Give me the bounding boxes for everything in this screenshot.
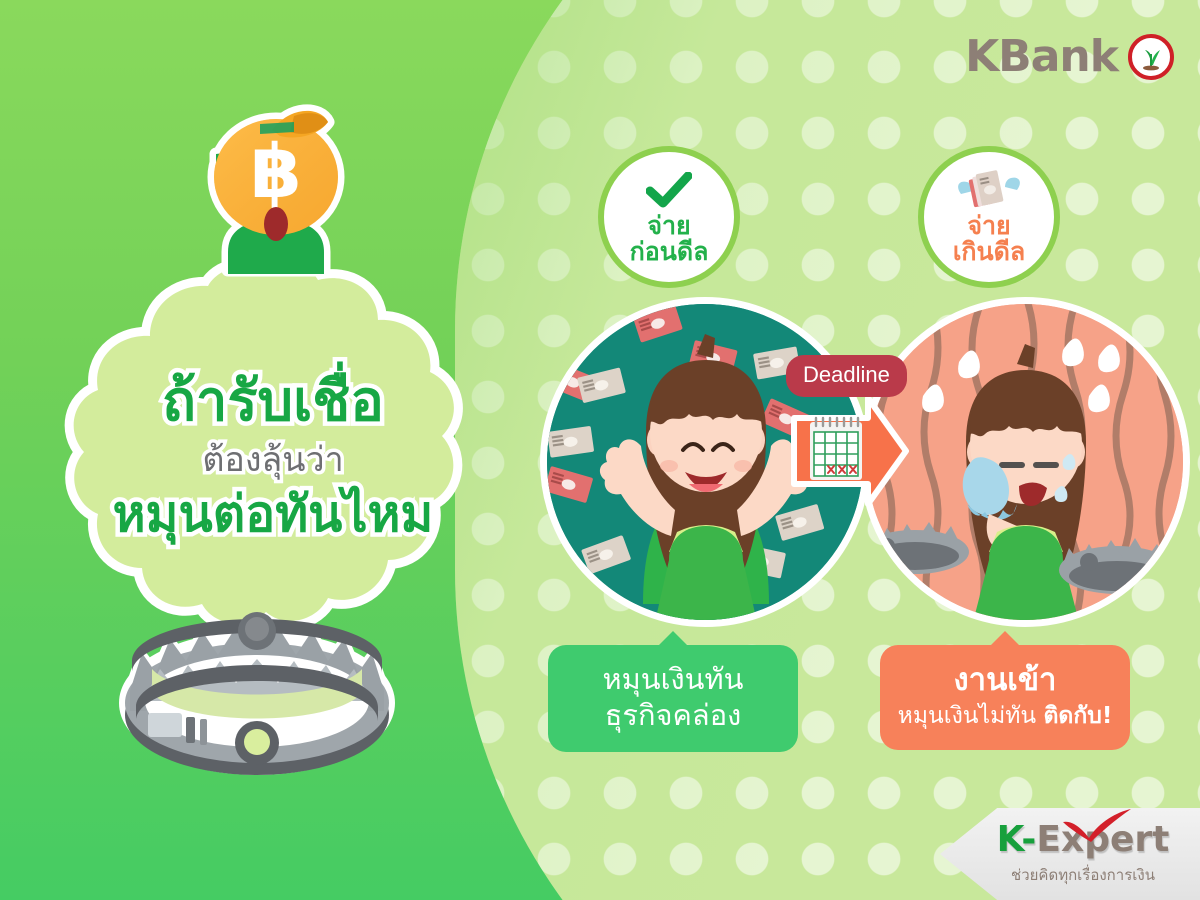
kexpert-tagline: ช่วยคิดทุกเรื่องการเงิน xyxy=(1011,863,1155,887)
check-mark-icon xyxy=(646,169,692,211)
red-check-icon xyxy=(1061,808,1135,849)
kbank-leaf-seal-icon xyxy=(1128,34,1174,80)
headline-line-1: ถ้ารับเชื่อ xyxy=(162,371,384,434)
caption-tail xyxy=(658,631,688,646)
caption-bad-line-1: งานเข้า xyxy=(954,661,1057,700)
kexpert-wordmark: K-Expert xyxy=(997,822,1170,858)
flying-money-icon xyxy=(953,169,1025,211)
bear-trap-icon xyxy=(112,595,402,785)
caption-bad-line-2: หมุนเงินไม่ทัน ติดกับ! xyxy=(898,702,1113,732)
headline-line-2: ต้องลุ้นว่า xyxy=(202,438,343,482)
caption-good-outcome: หมุนเงินทัน ธุรกิจคล่อง xyxy=(548,645,798,752)
calendar-with-x-marks-icon xyxy=(810,418,862,480)
kbank-wordmark: KBank xyxy=(965,35,1118,79)
badge-right-line-2: เกินดีล xyxy=(953,239,1025,265)
deadline-arrow xyxy=(790,396,910,506)
badge-pay-over-deal: จ่าย เกินดีล xyxy=(918,146,1060,288)
badge-pay-before-deal: จ่าย ก่อนดีล xyxy=(598,146,740,288)
badge-left-line-1: จ่าย xyxy=(630,213,709,239)
kexpert-k: K- xyxy=(997,819,1037,860)
badge-right-line-1: จ่าย xyxy=(953,213,1025,239)
svg-text:฿: ฿ xyxy=(250,129,302,215)
badge-left-line-2: ก่อนดีล xyxy=(630,239,709,265)
caption-bad-line-2-bold: ติดกับ! xyxy=(1043,703,1112,729)
caption-tail xyxy=(990,631,1020,646)
deadline-badge: Deadline xyxy=(786,355,907,397)
caption-bad-outcome: งานเข้า หมุนเงินไม่ทัน ติดกับ! xyxy=(880,645,1130,750)
caption-bad-line-2-regular: หมุนเงินไม่ทัน xyxy=(898,703,1044,729)
headline-cloud-callout: ถ้ารับเชื่อ ต้องลุ้นว่า หมุนต่อทันไหม xyxy=(58,262,488,652)
kbank-logo: KBank xyxy=(965,34,1174,80)
headline-line-3: หมุนต่อทันไหม xyxy=(113,486,434,544)
money-bag-character: ฿ xyxy=(168,92,378,292)
infographic-canvas: KBank ถ้ารับเชื่อ ต้องลุ้นว่า หมุนต่อทัน… xyxy=(0,0,1200,900)
caption-good-line-2: ธุรกิจคล่อง xyxy=(605,697,742,733)
caption-good-line-1: หมุนเงินทัน xyxy=(603,661,744,697)
